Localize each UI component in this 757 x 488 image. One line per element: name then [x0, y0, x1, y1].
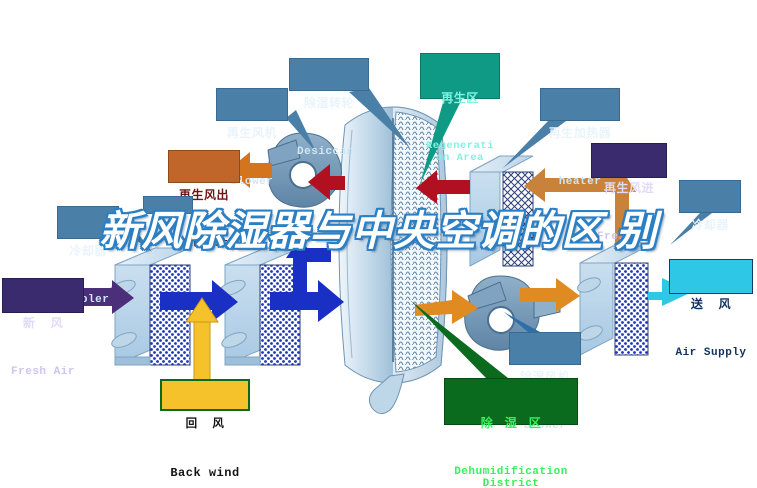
- label-blower-regen[interactable]: 再生风机 Blower: [216, 88, 288, 121]
- label-blower-dehum[interactable]: 除湿风机 Blower: [509, 332, 581, 365]
- label-fresh-air[interactable]: 新 风 Fresh Air: [2, 278, 84, 313]
- label-regen-heater-cn: 再生加热器: [541, 127, 619, 140]
- label-back-wind[interactable]: 回 风 Back wind: [160, 379, 250, 411]
- diagram-canvas: 再生风机 Blower 除湿转轮 Desiccant 再生区 Regenerat…: [0, 0, 757, 488]
- label-regen-fresh-air[interactable]: 再生风进 Fresh Air: [591, 143, 667, 178]
- label-regen-area-en: Regenerati on Area: [421, 141, 499, 165]
- label-blower-regen-cn: 再生风机: [217, 127, 287, 140]
- label-back-wind-en: Back wind: [162, 467, 248, 480]
- label-dehum-district-cn: 除 湿 区: [445, 417, 577, 430]
- label-exhaust[interactable]: 再生风出 Exhaust: [168, 150, 240, 183]
- label-fresh-air-cn: 新 风: [3, 317, 83, 330]
- label-air-supply-cn: 送 风: [670, 298, 752, 311]
- label-cooler-right[interactable]: 冷却器 Cooler: [679, 180, 741, 213]
- label-air-supply[interactable]: 送 风 Air Supply: [669, 259, 753, 294]
- label-desiccant-en: Desiccant: [290, 146, 368, 158]
- label-regen-heater[interactable]: 再生加热器 heater: [540, 88, 620, 121]
- label-desiccant-cn: 除湿转轮: [290, 97, 368, 110]
- label-dehum-district[interactable]: 除 湿 区 Dehumidification District: [444, 378, 578, 425]
- label-regen-fresh-air-cn: 再生风进: [592, 182, 666, 195]
- label-air-supply-en: Air Supply: [670, 347, 752, 359]
- overlay-title: 新风除湿器与中央空调的区 别: [0, 212, 757, 251]
- label-regen-area-cn: 再生区: [421, 92, 499, 105]
- label-desiccant[interactable]: 除湿转轮 Desiccant: [289, 58, 369, 91]
- label-back-wind-cn: 回 风: [162, 418, 248, 431]
- label-regen-area[interactable]: 再生区 Regenerati on Area: [420, 53, 500, 99]
- label-dehum-district-en: Dehumidification District: [445, 466, 577, 488]
- label-fresh-air-en: Fresh Air: [3, 366, 83, 378]
